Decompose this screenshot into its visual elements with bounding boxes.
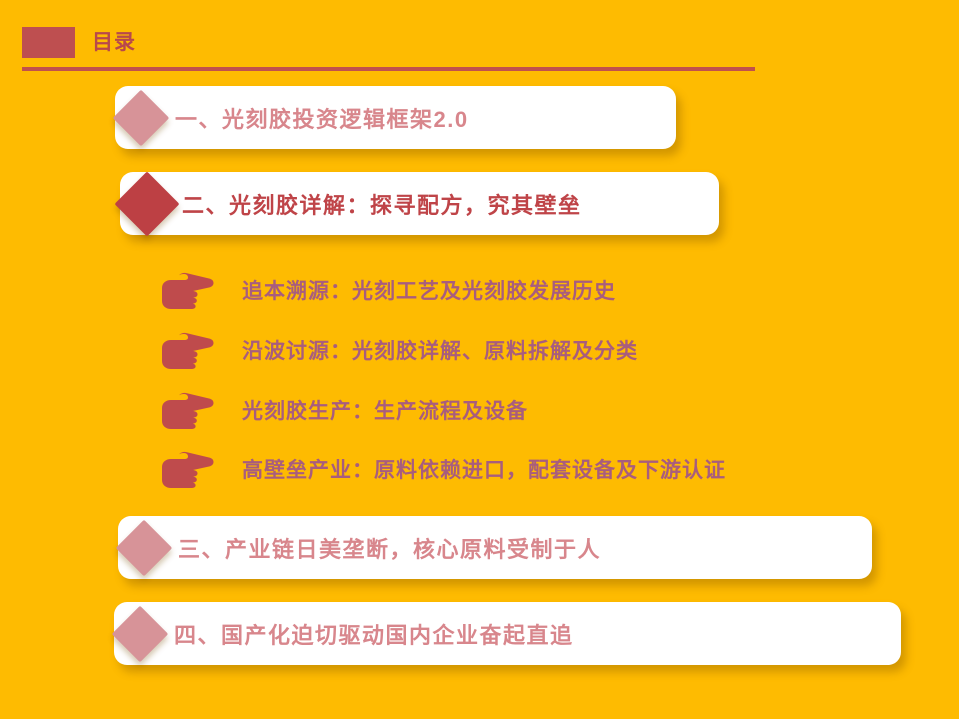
- pointing-hand-icon: [157, 332, 219, 372]
- diamond-bullet-icon: [114, 171, 179, 236]
- header-divider: [22, 67, 755, 71]
- diamond-bullet-icon: [113, 89, 170, 146]
- toc-subsection-3[interactable]: 光刻胶生产：生产流程及设备: [157, 390, 528, 434]
- diamond-bullet-icon: [112, 605, 169, 662]
- toc-chapter-4[interactable]: 四、国产化迫切驱动国内企业奋起直追: [114, 602, 901, 665]
- toc-chapter-2-label: 二、光刻胶详解：探寻配方，究其壁垒: [182, 188, 582, 220]
- presentation-slide: 目录 一、光刻胶投资逻辑框架2.0 二、光刻胶详解：探寻配方，究其壁垒 追本溯源…: [0, 0, 959, 719]
- page-title: 目录: [92, 28, 136, 58]
- toc-chapter-1[interactable]: 一、光刻胶投资逻辑框架2.0: [115, 86, 676, 149]
- pointing-hand-icon: [157, 451, 219, 491]
- toc-subsection-1-label: 追本溯源：光刻工艺及光刻胶发展历史: [242, 278, 616, 306]
- toc-subsection-2[interactable]: 沿波讨源：光刻胶详解、原料拆解及分类: [157, 330, 638, 374]
- toc-chapter-3[interactable]: 三、产业链日美垄断，核心原料受制于人: [118, 516, 872, 579]
- toc-subsection-4-label: 高壁垒产业：原料依赖进口，配套设备及下游认证: [242, 457, 726, 485]
- diamond-bullet-icon: [116, 519, 173, 576]
- toc-subsection-3-label: 光刻胶生产：生产流程及设备: [242, 398, 528, 426]
- toc-subsection-2-label: 沿波讨源：光刻胶详解、原料拆解及分类: [242, 338, 638, 366]
- header-accent-block: [22, 27, 75, 58]
- toc-chapter-4-label: 四、国产化迫切驱动国内企业奋起直追: [174, 618, 574, 650]
- pointing-hand-icon: [157, 392, 219, 432]
- toc-subsection-4[interactable]: 高壁垒产业：原料依赖进口，配套设备及下游认证: [157, 449, 726, 493]
- toc-subsection-1[interactable]: 追本溯源：光刻工艺及光刻胶发展历史: [157, 270, 616, 314]
- pointing-hand-icon: [157, 272, 219, 312]
- toc-chapter-3-label: 三、产业链日美垄断，核心原料受制于人: [178, 532, 601, 564]
- toc-chapter-2[interactable]: 二、光刻胶详解：探寻配方，究其壁垒: [120, 172, 719, 235]
- toc-chapter-1-label: 一、光刻胶投资逻辑框架2.0: [175, 102, 469, 134]
